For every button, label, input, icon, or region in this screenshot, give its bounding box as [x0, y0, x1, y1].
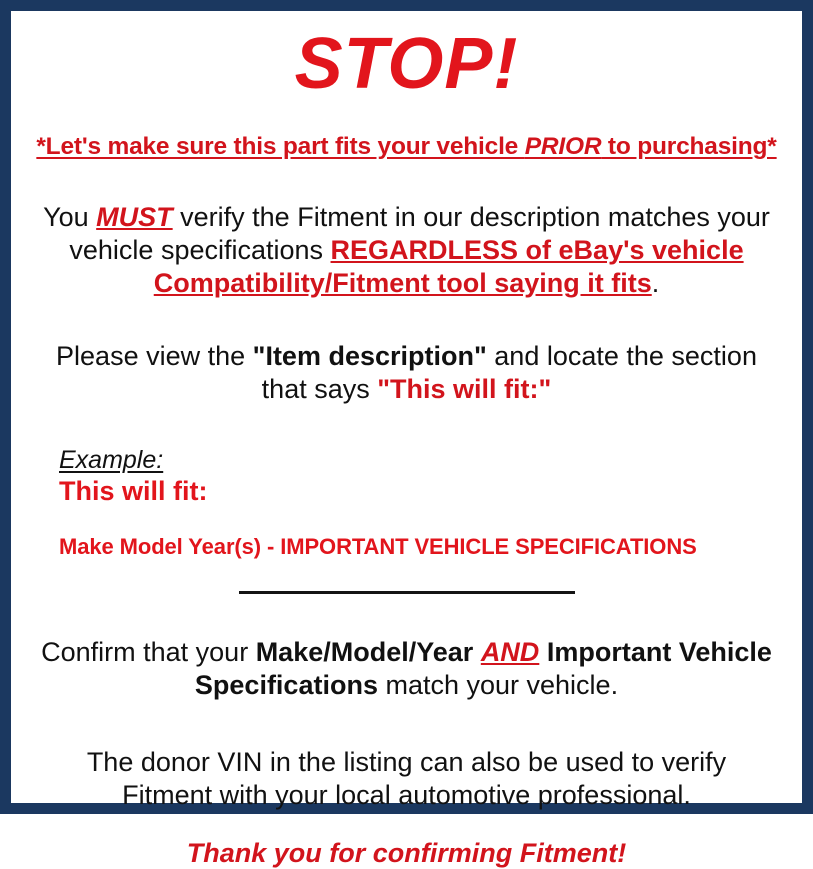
section-divider-wrapper: [21, 590, 792, 594]
must-paragraph-part3: .: [652, 268, 660, 298]
example-label: Example:: [59, 446, 792, 475]
confirm-paragraph-part2: match your vehicle.: [378, 670, 618, 700]
subtitle-banner: *Let's make sure this part fits your veh…: [21, 133, 792, 161]
fitment-notice-card: STOP! *Let's make sure this part fits yo…: [0, 0, 813, 814]
item-description-quote: "Item description": [253, 341, 487, 371]
item-description-paragraph: Please view the "Item description" and l…: [21, 340, 792, 406]
this-will-fit-quote: "This will fit:": [377, 374, 551, 404]
must-verify-paragraph: You MUST verify the Fitment in our descr…: [21, 201, 792, 300]
subtitle-text-after: to purchasing*: [601, 133, 776, 160]
example-block: Example: This will fit: Make Model Year(…: [21, 446, 792, 561]
example-fit-heading: This will fit:: [59, 476, 792, 507]
vin-paragraph: The donor VIN in the listing can also be…: [21, 746, 792, 812]
example-spec-line: Make Model Year(s) - IMPORTANT VEHICLE S…: [59, 534, 792, 560]
confirm-space-1: [473, 637, 481, 667]
must-paragraph-part1: You: [43, 202, 96, 232]
section-divider: [239, 591, 575, 594]
desc-paragraph-part1: Please view the: [56, 341, 253, 371]
thank-you-message: Thank you for confirming Fitment!: [21, 838, 792, 869]
confirm-paragraph: Confirm that your Make/Model/Year AND Im…: [21, 636, 792, 702]
confirm-space-2: [539, 637, 547, 667]
subtitle-emphasis-prior: PRIOR: [525, 133, 602, 160]
page-title: STOP!: [21, 28, 792, 100]
and-emphasis: AND: [481, 637, 540, 667]
make-model-year-emphasis: Make/Model/Year: [256, 637, 474, 667]
subtitle-text-before: *Let's make sure this part fits your veh…: [36, 133, 524, 160]
must-emphasis: MUST: [96, 202, 173, 232]
confirm-paragraph-part1: Confirm that your: [41, 637, 256, 667]
